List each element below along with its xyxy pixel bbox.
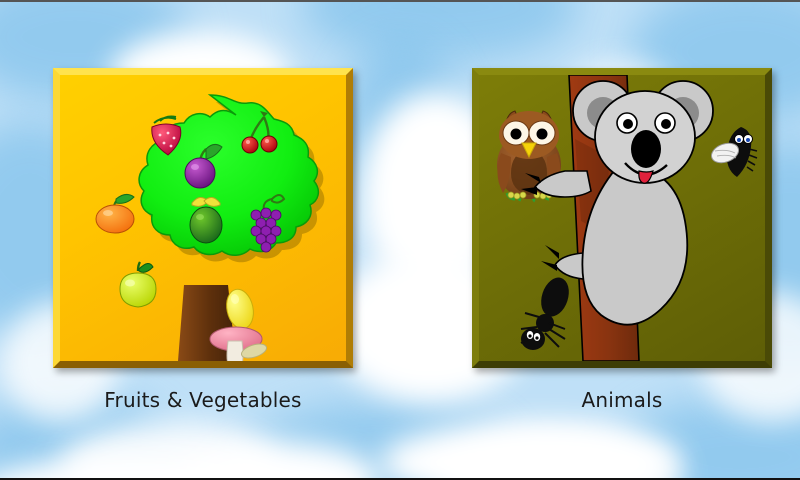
tile-fruits-artwork — [60, 75, 346, 361]
green-apple-icon — [120, 262, 156, 307]
tile-fruits-vegetables-label: Fruits & Vegetables — [53, 388, 353, 412]
tile-animals-label: Animals — [472, 388, 772, 412]
koala-tree-illustration — [479, 75, 765, 361]
fly-icon — [709, 127, 757, 177]
fruit-tree-illustration — [60, 75, 346, 361]
app-root: Fruits & Vegetables — [0, 0, 800, 480]
orange-icon — [96, 194, 134, 233]
ant-icon — [521, 274, 574, 350]
tile-animals[interactable] — [472, 68, 772, 368]
tile-animals-artwork — [479, 75, 765, 361]
tree-crown — [139, 95, 324, 262]
tile-fruits-vegetables[interactable] — [53, 68, 353, 368]
